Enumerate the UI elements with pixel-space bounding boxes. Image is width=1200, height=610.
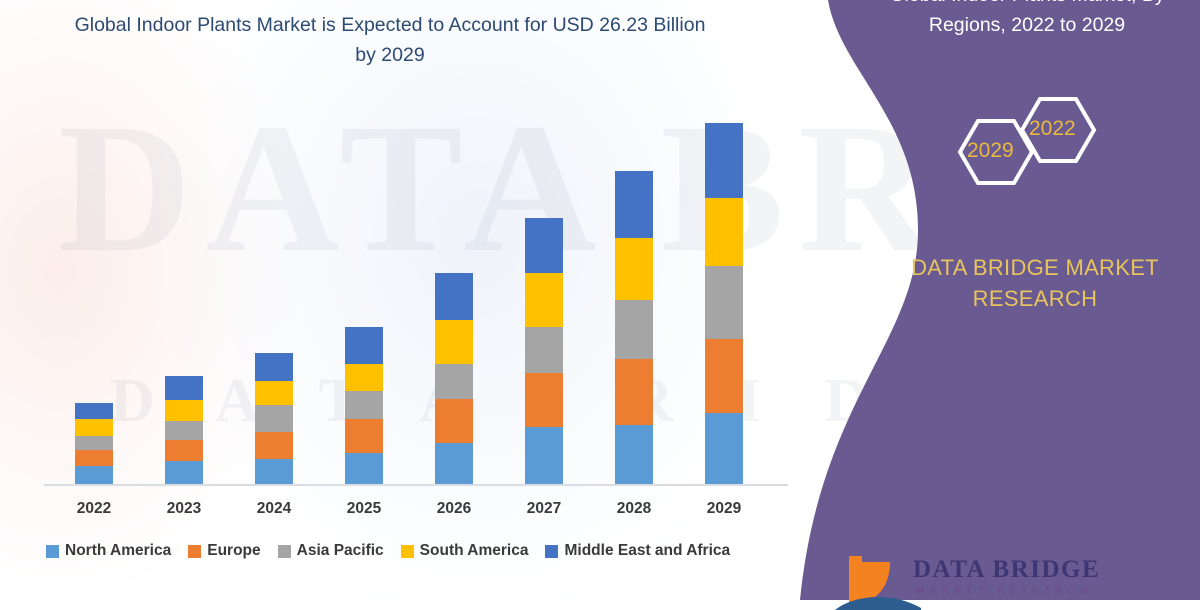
bar-segment-2024-middle-east-and-africa [255,353,293,380]
bar-segment-2023-north-america [165,461,203,484]
bar-2026 [435,273,473,484]
bar-segment-2029-south-america [705,198,743,266]
bar-segment-2027-north-america [525,427,563,484]
legend-item-south-america: South America [401,542,529,560]
bar-segment-2023-europe [165,440,203,461]
legend-item-europe: Europe [188,542,260,560]
legend-label: North America [65,542,171,560]
panel-heading-line-1: Global Indoor Plants Market, By [862,0,1192,10]
bar-segment-2024-north-america [255,459,293,484]
infographic-canvas: DATA BRI D A T A B R I D G E 20222023202… [0,0,1200,600]
brand-name: DATA BRIDGE MARKET RESEARCH [885,252,1185,314]
bar-segment-2025-north-america [345,453,383,484]
brand-name-line-1: DATA BRIDGE MARKET [911,255,1159,280]
bar-segment-2024-asia-pacific [255,405,293,432]
bar-segment-2028-north-america [615,425,653,484]
bar-2027 [525,218,563,484]
bar-segment-2029-north-america [705,413,743,484]
legend-label: South America [420,542,529,560]
x-tick-label-2024: 2024 [234,500,314,518]
legend-swatch-icon [188,545,201,558]
company-logo: DATA BRIDGE MARKET RESEARCH [835,550,1175,610]
panel-heading: Global Indoor Plants Market, By Regions,… [862,0,1192,40]
hexagon-shapes [930,92,1130,212]
bar-2022 [75,403,113,484]
x-tick-label-2029: 2029 [684,500,764,518]
bar-segment-2023-asia-pacific [165,421,203,440]
bar-segment-2028-middle-east-and-africa [615,171,653,238]
legend-swatch-icon [401,545,414,558]
bar-segment-2026-north-america [435,443,473,484]
bar-2029 [705,123,743,484]
legend-swatch-icon [545,545,558,558]
legend-label: Middle East and Africa [564,542,730,560]
bar-segment-2029-europe [705,339,743,413]
bar-2024 [255,353,293,484]
bar-segment-2025-middle-east-and-africa [345,327,383,364]
bar-segment-2027-south-america [525,273,563,326]
bridge-icon [835,552,925,610]
bar-segment-2025-south-america [345,364,383,391]
bar-segment-2025-asia-pacific [345,391,383,420]
bar-2025 [345,327,383,484]
bar-segment-2027-middle-east-and-africa [525,218,563,273]
hexagon-label-2022: 2022 [1029,117,1076,141]
bar-segment-2026-europe [435,399,473,443]
legend-swatch-icon [46,545,59,558]
legend-label: Europe [207,542,260,560]
bar-segment-2029-middle-east-and-africa [705,123,743,198]
x-tick-label-2022: 2022 [54,500,134,518]
bar-segment-2022-europe [75,450,113,466]
bar-segment-2022-north-america [75,466,113,484]
brand-name-line-2: RESEARCH [973,286,1098,311]
bar-segment-2028-asia-pacific [615,300,653,359]
bar-2023 [165,376,203,484]
x-tick-label-2027: 2027 [504,500,584,518]
logo-tagline: MARKET RESEARCH [915,586,1093,597]
bar-segment-2023-middle-east-and-africa [165,376,203,400]
panel-heading-line-2: Regions, 2022 to 2029 [862,10,1192,40]
bar-segment-2026-south-america [435,320,473,364]
bar-segment-2026-middle-east-and-africa [435,273,473,320]
bar-segment-2025-europe [345,419,383,452]
bar-segment-2027-europe [525,373,563,426]
logo-name: DATA BRIDGE [913,556,1100,584]
legend-item-middle-east-and-africa: Middle East and Africa [545,542,730,560]
bar-segment-2024-south-america [255,381,293,406]
bar-segment-2028-south-america [615,238,653,300]
x-tick-label-2026: 2026 [414,500,494,518]
bar-segment-2027-asia-pacific [525,327,563,374]
x-tick-label-2023: 2023 [144,500,224,518]
stacked-bar-chart: 20222023202420252026202720282029 [0,0,820,600]
x-tick-label-2028: 2028 [594,500,674,518]
x-tick-label-2025: 2025 [324,500,404,518]
bar-segment-2022-asia-pacific [75,436,113,450]
bar-segment-2024-europe [255,432,293,459]
bar-segment-2022-middle-east-and-africa [75,403,113,419]
chart-legend: North AmericaEuropeAsia PacificSouth Ame… [46,542,786,560]
bar-segment-2023-south-america [165,400,203,421]
legend-item-north-america: North America [46,542,171,560]
bar-segment-2022-south-america [75,419,113,436]
hexagon-badges: 2029 2022 [930,92,1130,212]
legend-swatch-icon [278,545,291,558]
legend-item-asia-pacific: Asia Pacific [278,542,384,560]
bar-segment-2026-asia-pacific [435,364,473,399]
x-axis-line [44,484,788,486]
bar-2028 [615,171,653,484]
page-title-line-1: Global Indoor Plants Market is Expected … [75,14,594,36]
bar-segment-2029-asia-pacific [705,266,743,339]
bar-segment-2028-europe [615,359,653,425]
hexagon-label-2029: 2029 [967,139,1014,163]
page-title: Global Indoor Plants Market is Expected … [70,10,710,70]
legend-label: Asia Pacific [297,542,384,560]
